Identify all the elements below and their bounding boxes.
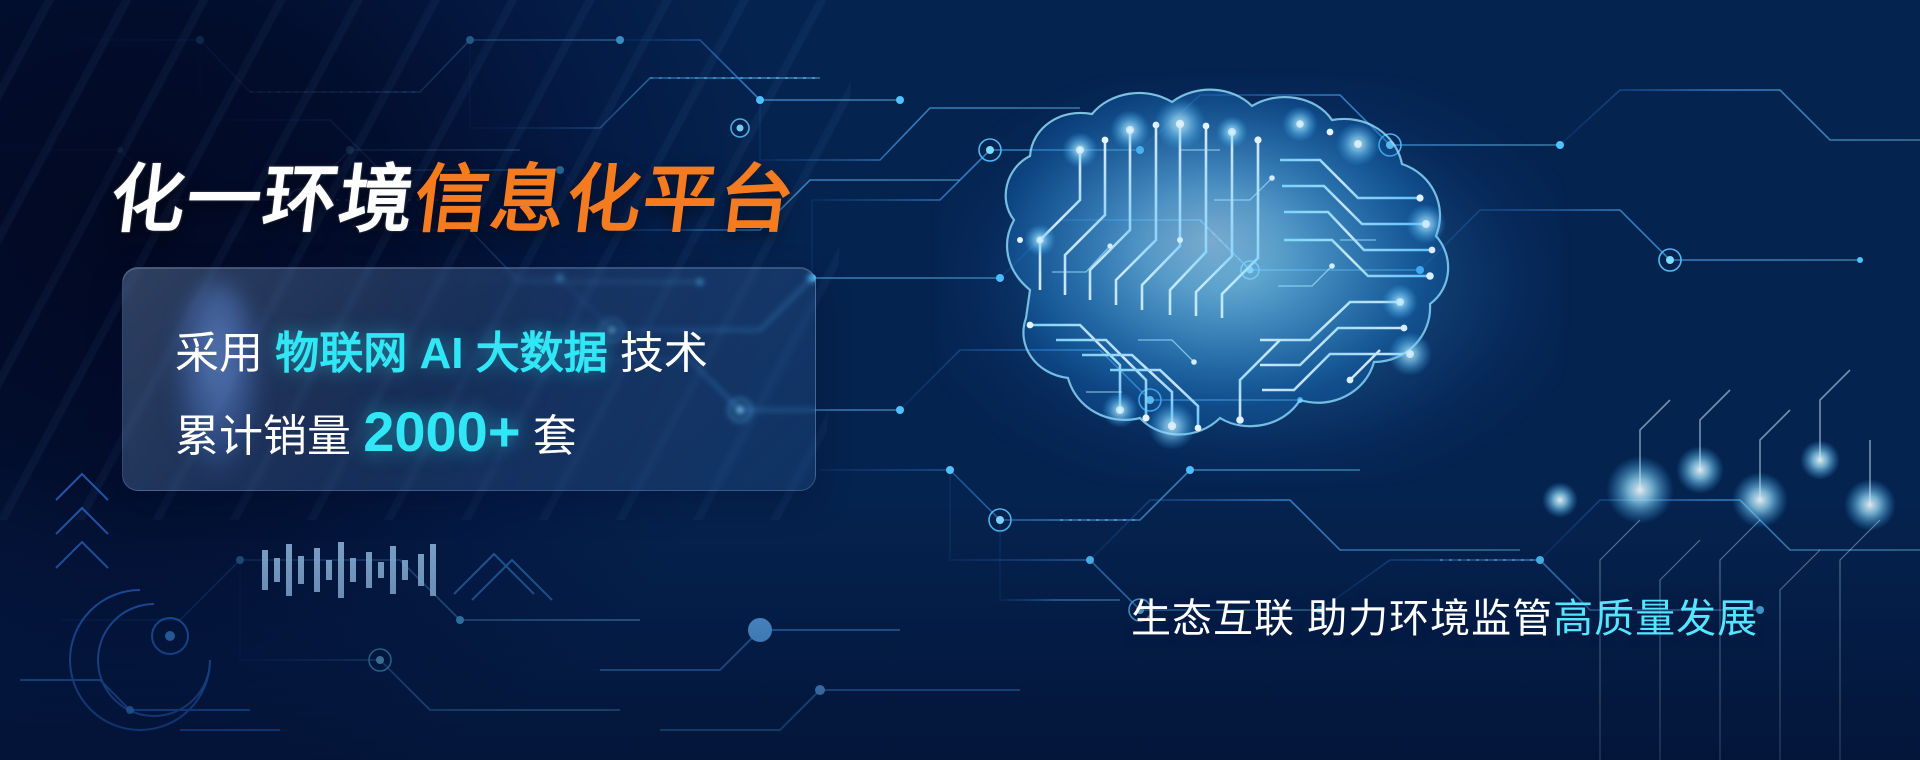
ai-brain-circuit-illustration [880, 40, 1620, 510]
tagline-white-part: 生态互联 助力环境监管 [1131, 597, 1553, 641]
tagline: 生态互联 助力环境监管高质量发展 [1131, 586, 1758, 644]
feature-line-technology: 采用 物联网 AI 大数据 技术 [175, 317, 708, 381]
bottom-line-deco [600, 470, 1020, 760]
hero-banner: 化一环境信息化平台 采用 物联网 AI 大数据 技术 累计销量 2000+ 套 … [0, 0, 1920, 760]
tagline-accent-part: 高质量发展 [1553, 597, 1758, 641]
page-title: 化一环境信息化平台 [105, 140, 802, 247]
tech-suffix-label: 技术 [620, 329, 708, 378]
title-accent-part: 信息化平台 [410, 158, 800, 241]
tech-prefix-label: 采用 [175, 329, 263, 378]
brain-svg [880, 40, 1620, 510]
sales-count-value: 2000+ [363, 400, 520, 463]
tech-highlight-label: 物联网 AI 大数据 [275, 329, 607, 378]
brain-glow [940, 80, 1560, 480]
sales-prefix-label: 累计销量 [175, 412, 351, 461]
equalizer-bars-deco [258, 540, 598, 610]
sales-unit-label: 套 [533, 412, 577, 461]
feature-line-sales: 累计销量 2000+ 套 [175, 399, 577, 464]
feature-card: 采用 物联网 AI 大数据 技术 累计销量 2000+ 套 [122, 267, 816, 491]
title-white-part: 化一环境 [106, 158, 420, 241]
